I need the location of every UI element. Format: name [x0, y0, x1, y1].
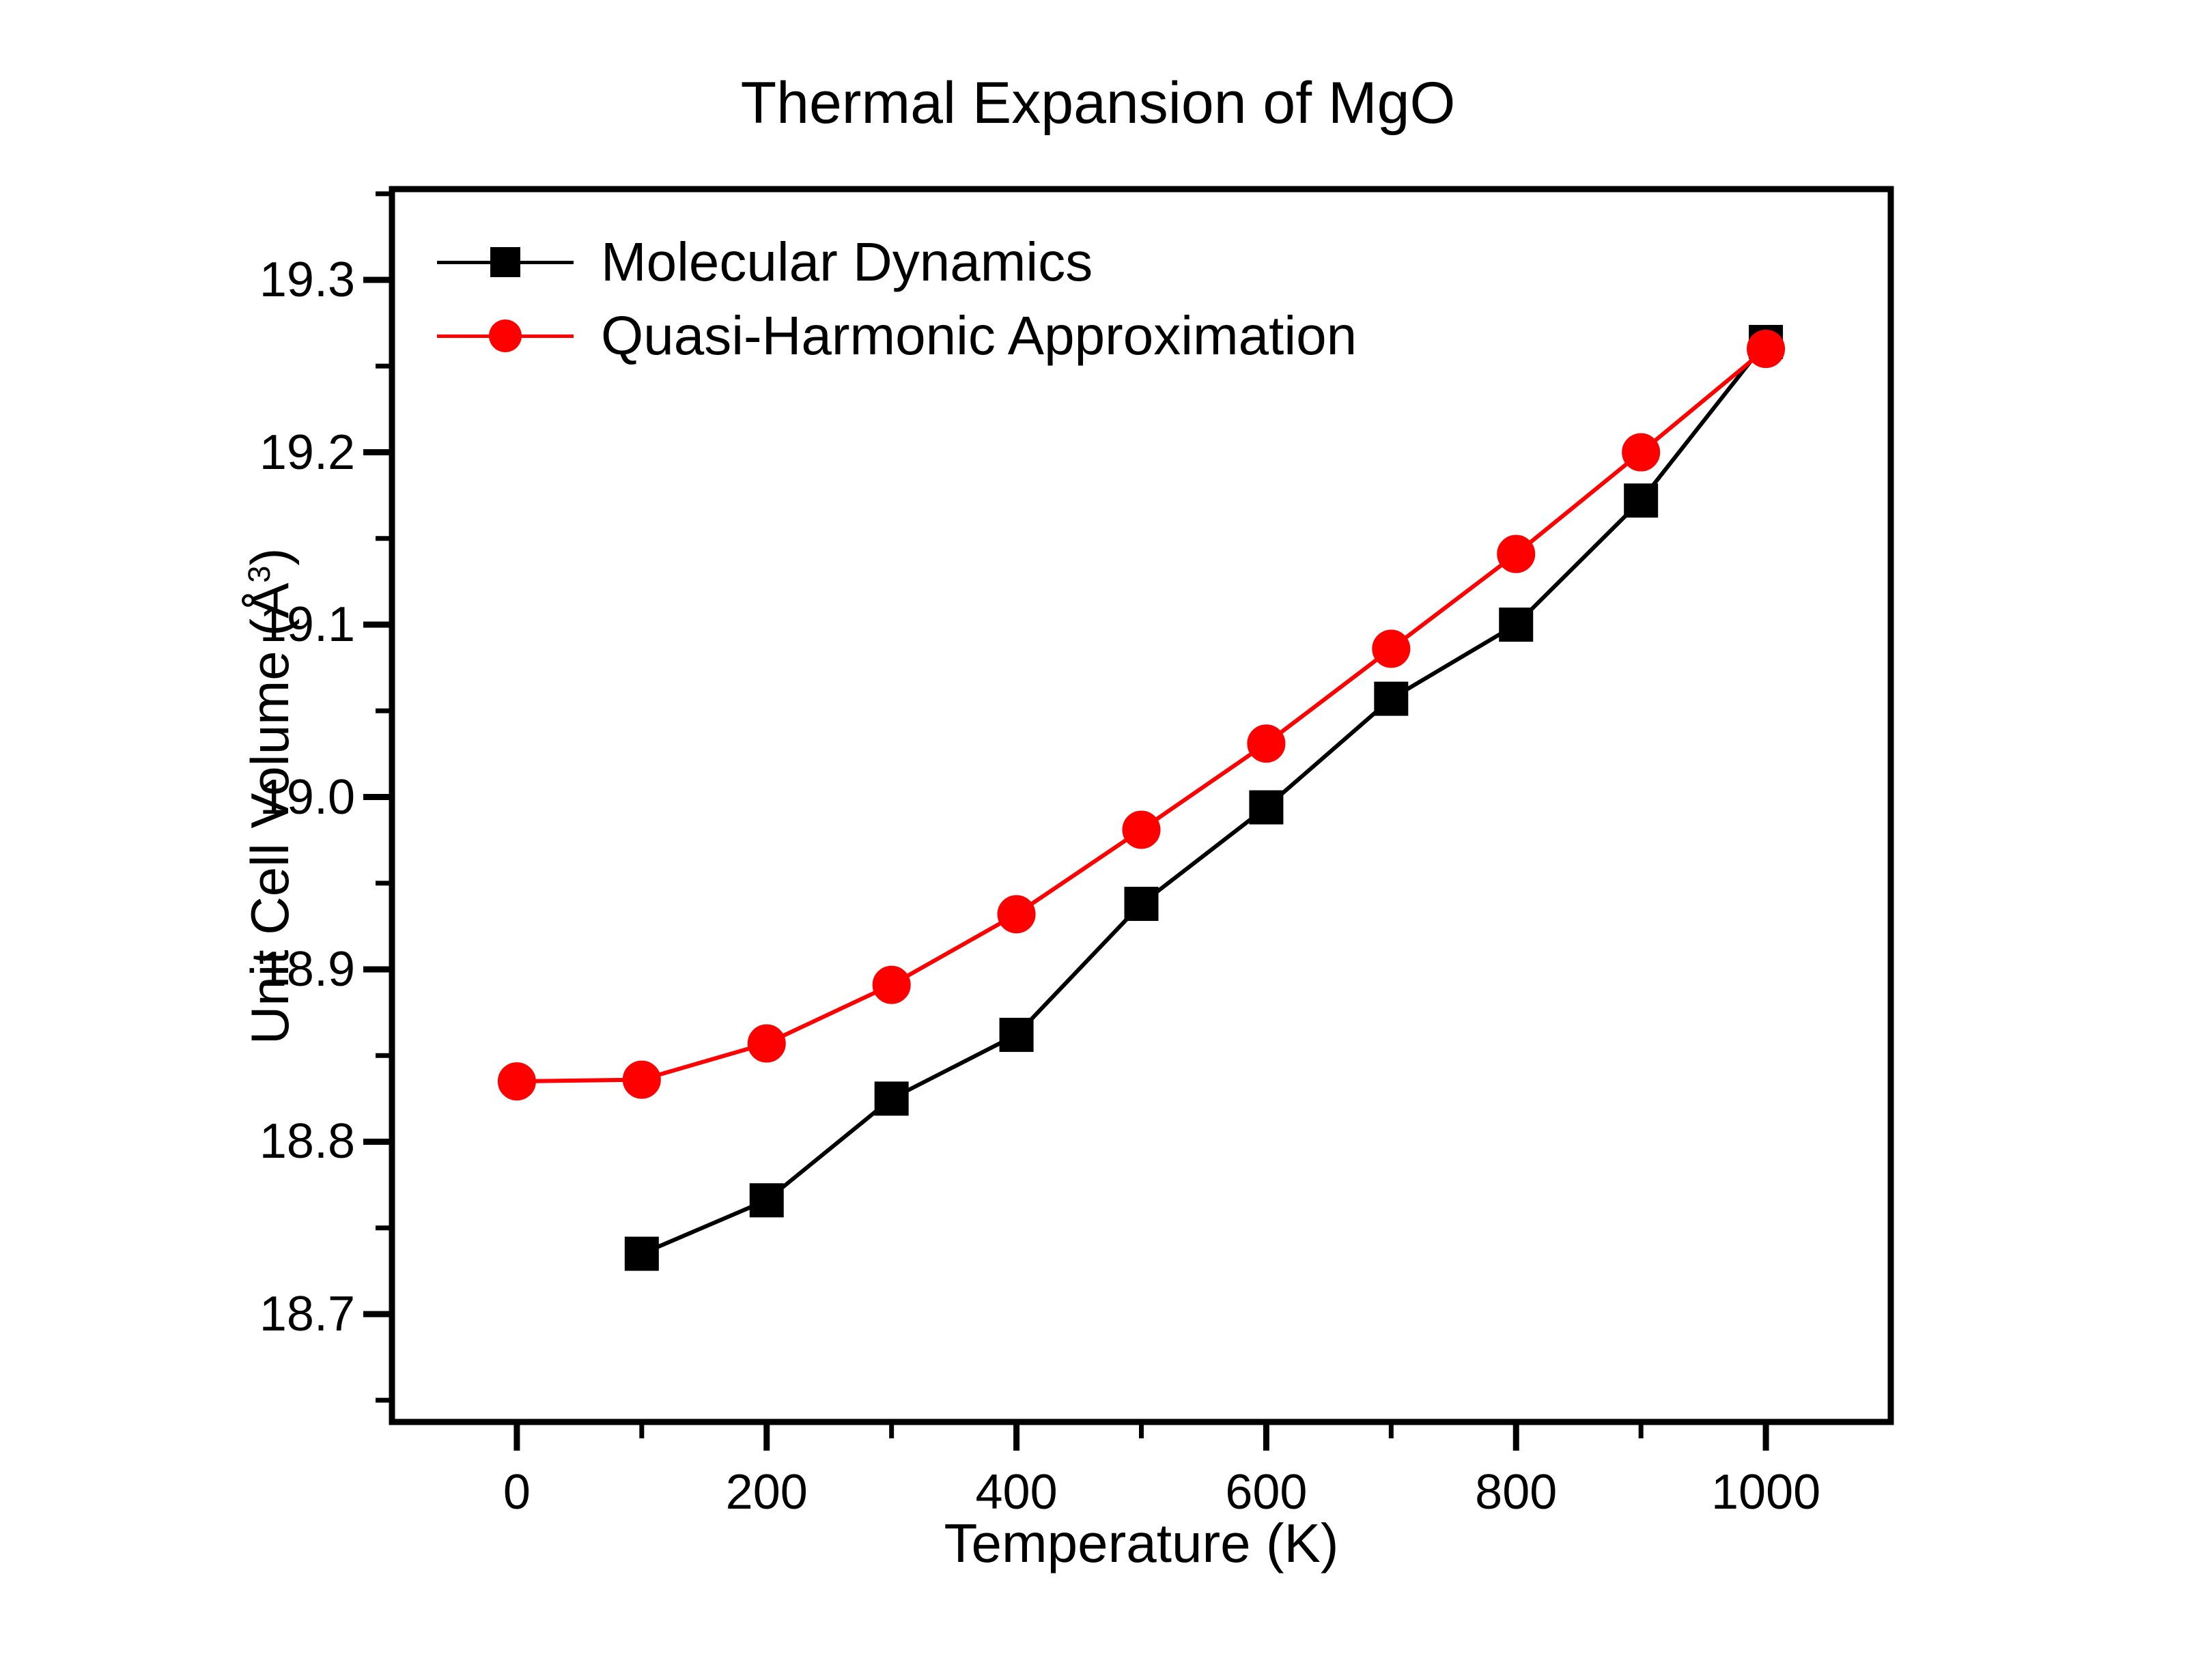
y-tick-label: 19.3	[157, 252, 355, 308]
legend-item-0[interactable]: Molecular Dynamics	[437, 225, 1598, 299]
series-line-1	[517, 349, 1766, 1081]
chart-figure: Thermal Expansion of MgO Unit Cell Volum…	[0, 0, 2196, 1680]
legend-sample-square-icon	[437, 242, 574, 283]
data-series-layer	[498, 326, 1784, 1270]
marker-square	[750, 1184, 783, 1216]
x-tick-label: 200	[726, 1464, 808, 1520]
marker-circle	[748, 1025, 785, 1062]
marker-circle	[1123, 811, 1160, 848]
x-tick-label: 600	[1225, 1464, 1307, 1520]
chart-legend: Molecular DynamicsQuasi-Harmonic Approxi…	[437, 225, 1598, 373]
y-tick-label: 19.2	[157, 425, 355, 481]
marker-square	[1500, 608, 1532, 641]
y-tick-label: 19.0	[157, 769, 355, 825]
marker-circle	[623, 1062, 660, 1098]
marker-circle	[498, 1063, 535, 1100]
marker-circle	[1497, 536, 1534, 573]
x-tick-label: 800	[1475, 1464, 1557, 1520]
major-ticks	[363, 280, 1766, 1451]
y-tick-label: 18.7	[157, 1286, 355, 1342]
marker-circle	[1372, 630, 1409, 667]
legend-item-1[interactable]: Quasi-Harmonic Approximation	[437, 299, 1598, 373]
legend-sample-circle-icon	[437, 315, 574, 356]
marker-square	[1375, 683, 1407, 715]
axis-frame	[392, 189, 1891, 1422]
marker-circle	[998, 896, 1035, 932]
minor-ticks	[376, 194, 1641, 1438]
x-tick-label: 400	[976, 1464, 1058, 1520]
marker-square	[1250, 791, 1282, 824]
marker-square	[1624, 484, 1657, 517]
marker-circle	[873, 967, 910, 1003]
x-tick-label: 1000	[1711, 1464, 1820, 1520]
marker-circle	[1747, 330, 1784, 367]
x-tick-label: 0	[503, 1464, 531, 1520]
marker-square	[1000, 1019, 1033, 1051]
marker-circle	[1248, 725, 1284, 762]
y-tick-label: 18.9	[157, 941, 355, 997]
y-tick-label: 18.8	[157, 1113, 355, 1169]
series-line-0	[642, 342, 1766, 1254]
marker-circle	[1622, 434, 1659, 471]
marker-square	[1125, 887, 1158, 920]
legend-label: Quasi-Harmonic Approximation	[574, 304, 1357, 367]
legend-circle-marker-icon	[489, 319, 522, 352]
marker-square	[625, 1238, 658, 1270]
legend-label: Molecular Dynamics	[574, 231, 1093, 294]
legend-square-marker-icon	[490, 247, 520, 277]
y-tick-label: 19.1	[157, 597, 355, 653]
marker-square	[875, 1082, 908, 1115]
